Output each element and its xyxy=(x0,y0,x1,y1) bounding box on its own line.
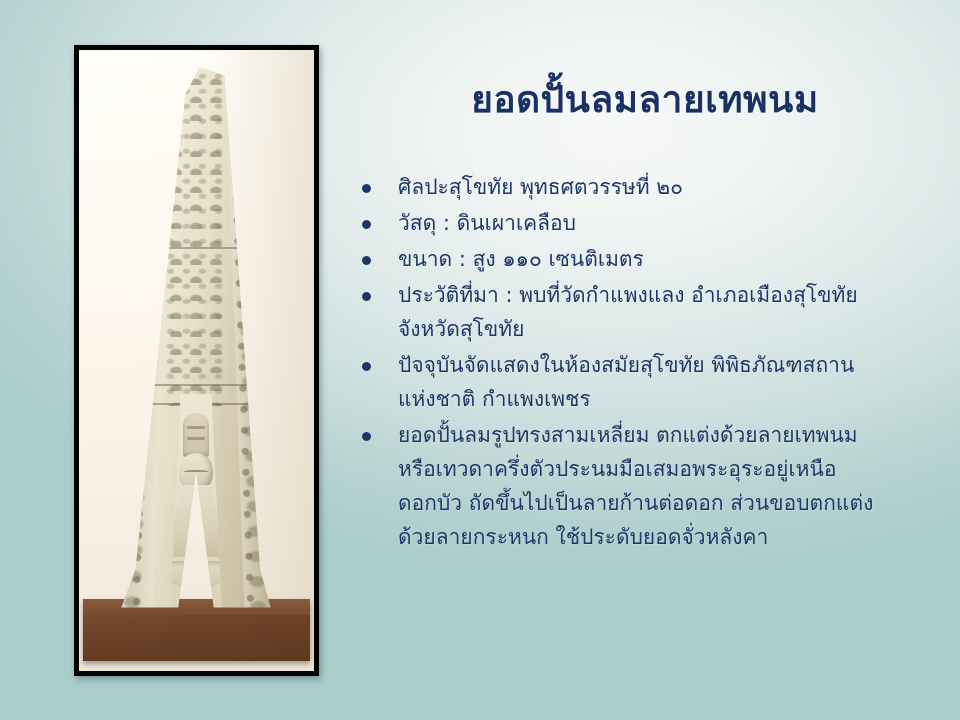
sculpture-body xyxy=(107,67,285,613)
deva-praying-hands xyxy=(189,507,204,547)
deva-torso xyxy=(163,485,229,557)
presentation-slide: ยอดปั้นลมลายเทพนม ศิลปะสุโขทัย พุทธศตวรร… xyxy=(0,0,960,720)
bullet-line: ศิลปะสุโขทัย พุทธศตวรรษที่ ๒๐ xyxy=(398,170,922,204)
bullet-item: ปัจจุบันจัดแสดงในห้องสมัยสุโขทัย พิพิธภั… xyxy=(362,348,922,416)
bullet-line: ประวัติที่มา : พบที่วัดกำแพงแลง อำเภอเมื… xyxy=(398,278,922,312)
bullet-dot-icon xyxy=(362,292,371,301)
bullet-text: ประวัติที่มา : พบที่วัดกำแพงแลง อำเภอเมื… xyxy=(398,278,922,346)
deva-crown xyxy=(183,413,209,457)
bullet-text: วัสดุ : ดินเผาเคลือบ xyxy=(398,206,922,240)
artifact-sculpture xyxy=(107,67,285,613)
bullet-item: วัสดุ : ดินเผาเคลือบ xyxy=(362,206,922,240)
slide-title: ยอดปั้นลมลายเทพนม xyxy=(345,78,945,122)
artifact-photo xyxy=(79,50,314,671)
bullet-line: ขนาด : สูง ๑๑๐ เซนติเมตร xyxy=(398,242,922,276)
slide-body-list: ศิลปะสุโขทัย พุทธศตวรรษที่ ๒๐ วัสดุ : ดิ… xyxy=(362,170,922,556)
bullet-item: ประวัติที่มา : พบที่วัดกำแพงแลง อำเภอเมื… xyxy=(362,278,922,346)
deva-relief-panel xyxy=(153,394,239,609)
kranok-border-left xyxy=(121,67,172,613)
sculpture-seam xyxy=(118,247,275,249)
bullet-line: ดอกบัว ถัดขึ้นไปเป็นลายก้านต่อดอก ส่วนขอ… xyxy=(398,486,922,520)
bullet-line: ปัจจุบันจัดแสดงในห้องสมัยสุโขทัย พิพิธภั… xyxy=(398,348,922,382)
bullet-line: หรือเทวดาครึ่งตัวประนมมือเสมอพระอุระอยู่… xyxy=(398,452,922,486)
bullet-text: ปัจจุบันจัดแสดงในห้องสมัยสุโขทัย พิพิธภั… xyxy=(398,348,922,416)
bullet-item: ศิลปะสุโขทัย พุทธศตวรรษที่ ๒๐ xyxy=(362,170,922,204)
bullet-line: วัสดุ : ดินเผาเคลือบ xyxy=(398,206,922,240)
bullet-text: ยอดปั้นลมรูปทรงสามเหลี่ยม ตกแต่งด้วยลายเ… xyxy=(398,418,922,554)
bullet-dot-icon xyxy=(362,184,371,193)
bullet-dot-icon xyxy=(362,362,371,371)
bullet-line: จังหวัดสุโขทัย xyxy=(398,312,922,346)
bullet-line: ยอดปั้นลมรูปทรงสามเหลี่ยม ตกแต่งด้วยลายเ… xyxy=(398,418,922,452)
kranok-border-right xyxy=(226,67,275,613)
bullet-text: ขนาด : สูง ๑๑๐ เซนติเมตร xyxy=(398,242,922,276)
artifact-photo-frame xyxy=(74,45,319,676)
foliate-scroll-pattern xyxy=(166,67,227,406)
bullet-dot-icon xyxy=(362,256,371,265)
bullet-line: ด้วยลายกระหนก ใช้ประดับยอดจั่วหลังคา xyxy=(398,520,922,554)
bullet-item: ยอดปั้นลมรูปทรงสามเหลี่ยม ตกแต่งด้วยลายเ… xyxy=(362,418,922,554)
sculpture-seam xyxy=(118,384,275,386)
bullet-line: แห่งชาติ กำแพงเพชร xyxy=(398,382,922,416)
bullet-dot-icon xyxy=(362,432,371,441)
bullet-item: ขนาด : สูง ๑๑๐ เซนติเมตร xyxy=(362,242,922,276)
lotus-flower-base xyxy=(168,561,224,589)
bullet-dot-icon xyxy=(362,220,371,229)
bullet-text: ศิลปะสุโขทัย พุทธศตวรรษที่ ๒๐ xyxy=(398,170,922,204)
deva-face-detail xyxy=(184,470,207,473)
